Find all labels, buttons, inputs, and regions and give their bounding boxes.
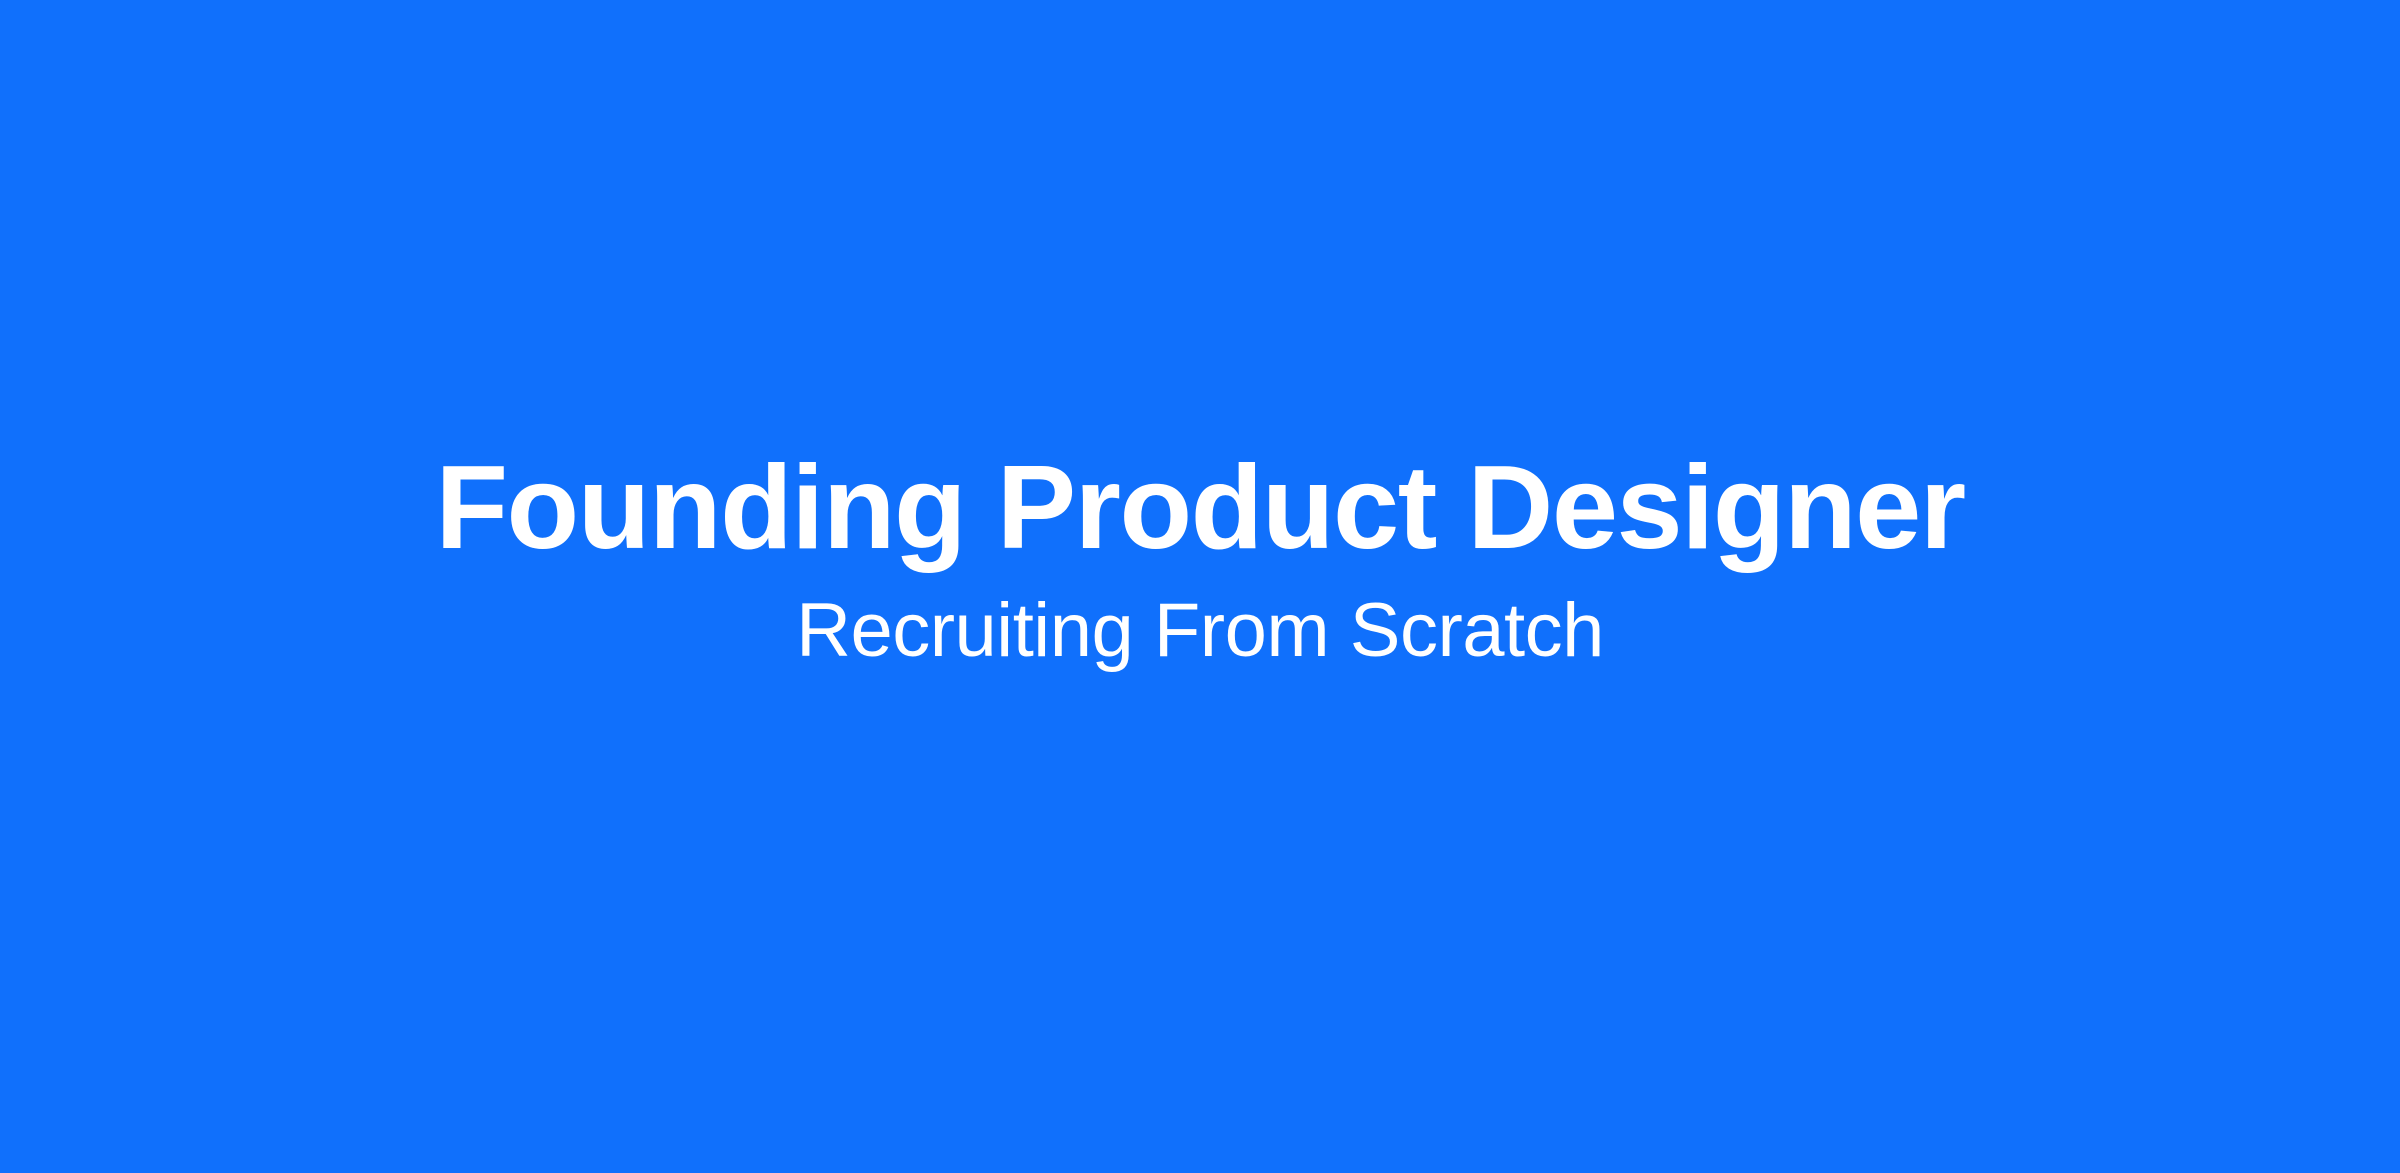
page-title: Founding Product Designer xyxy=(80,448,2320,567)
title-text-block: Founding Product Designer Recruiting Fro… xyxy=(0,448,2400,669)
page-subtitle: Recruiting From Scratch xyxy=(80,593,2320,669)
title-slide: Founding Product Designer Recruiting Fro… xyxy=(0,0,2400,1173)
